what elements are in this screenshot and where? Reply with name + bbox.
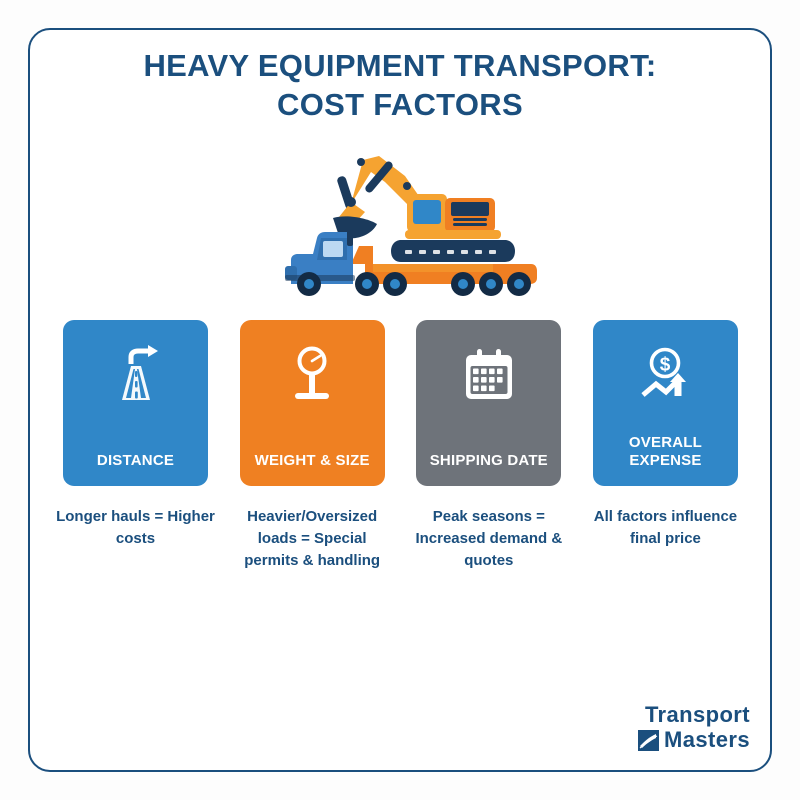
title-line-1: Heavy Equipment Transport: <box>60 46 740 85</box>
cost-factor-card-shipping-date[interactable]: Shipping Date Peak seasons = Increased d… <box>416 320 561 572</box>
card-tile-shipping-date[interactable]: Shipping Date <box>416 320 561 486</box>
cost-factor-card-overall-expense[interactable]: $ Overall Expense All factors influence … <box>593 320 738 572</box>
card-label-line-1: Weight & Size <box>240 452 385 470</box>
logo-text-line-1: Transport <box>645 703 750 727</box>
cost-factor-card-weight-size[interactable]: Weight & Size Heavier/Oversized loads = … <box>240 320 385 572</box>
brand-logo[interactable]: Transport Masters <box>638 703 750 752</box>
infographic-canvas: Heavy Equipment Transport: Cost Factors <box>0 0 800 800</box>
logo-text-line-2: Masters <box>664 728 750 752</box>
excavator-engine-vent <box>451 202 489 216</box>
weighing-scale-icon <box>281 344 343 406</box>
cost-factor-card-distance[interactable]: Distance Longer hauls = Higher costs <box>63 320 208 572</box>
truck-exhaust-stack <box>347 218 353 246</box>
logo-bottom-row: Masters <box>638 728 750 752</box>
card-label-shipping-date: Shipping Date <box>416 452 561 470</box>
dollar-trend-up-icon: $ <box>634 344 696 406</box>
card-caption-weight-size: Heavier/Oversized loads = Special permit… <box>232 506 392 572</box>
swoosh-square-icon <box>638 730 659 751</box>
card-label-overall-expense: Overall Expense <box>593 434 738 470</box>
card-label-line-1: Distance <box>63 452 208 470</box>
excavator-cab-window <box>413 200 441 224</box>
lowboy-truck-excavator-illustration <box>255 142 545 297</box>
road-arrow-icon <box>105 344 167 406</box>
card-tile-weight-size[interactable]: Weight & Size <box>240 320 385 486</box>
card-tile-distance[interactable]: Distance <box>63 320 208 486</box>
trailer-gooseneck <box>351 246 373 264</box>
page-title: Heavy Equipment Transport: Cost Factors <box>60 46 740 124</box>
truck-cab-window <box>323 241 343 257</box>
card-label-distance: Distance <box>63 452 208 470</box>
trailer-wheels <box>451 272 531 296</box>
excavator-base <box>405 230 501 239</box>
card-tile-overall-expense[interactable]: $ Overall Expense <box>593 320 738 486</box>
card-caption-overall-expense: All factors influence final price <box>585 506 745 550</box>
title-line-2: Cost Factors <box>60 85 740 124</box>
card-label-line-1: Overall <box>593 434 738 452</box>
svg-text:$: $ <box>660 355 671 376</box>
card-caption-distance: Longer hauls = Higher costs <box>56 506 216 550</box>
cost-factor-cards: Distance Longer hauls = Higher costs Wei… <box>63 320 738 572</box>
card-label-line-1: Shipping Date <box>416 452 561 470</box>
calendar-icon <box>458 344 520 406</box>
card-label-weight-size: Weight & Size <box>240 452 385 470</box>
card-caption-shipping-date: Peak seasons = Increased demand & quotes <box>409 506 569 572</box>
card-label-line-2: Expense <box>593 452 738 470</box>
